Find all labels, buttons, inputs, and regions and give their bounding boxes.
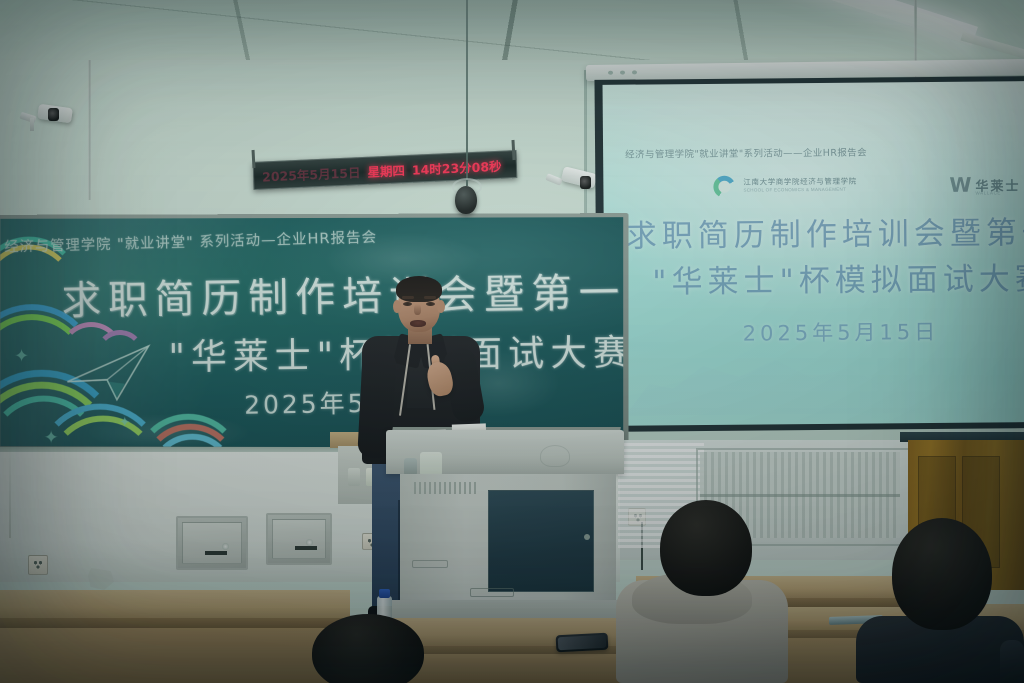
- utility-panel-inner: [272, 519, 326, 559]
- radiator-grille-divider: [700, 494, 900, 497]
- speaker-brow-left: [402, 296, 414, 299]
- hanging-microphone[interactable]: [455, 186, 477, 214]
- housing-led-icon: [608, 71, 613, 75]
- speaker-brow-right: [424, 296, 436, 299]
- student-desk-left-edge: [0, 618, 350, 628]
- slide-title-line1: 求职简历制作培训会暨第一: [626, 207, 1024, 256]
- projection-screen-frame: 经济与管理学院"就业讲堂"系列活动——企业HR报告会 江南大学商学院经济与管理学…: [594, 76, 1024, 432]
- led-weekday-segment: 星期四: [367, 160, 405, 181]
- podium-white-box[interactable]: [420, 452, 442, 476]
- sponsor-logo-subtitle: WALLACE: [975, 190, 1001, 195]
- wall-patch: [88, 568, 114, 590]
- panel-slot: [205, 551, 227, 555]
- smartphone-on-desk[interactable]: [556, 633, 609, 653]
- student-desk-left-front: [0, 628, 350, 683]
- utility-panel-2[interactable]: [266, 513, 332, 565]
- sponsor-w-icon: W: [949, 173, 971, 197]
- university-logo-subtitle: SCHOOL OF ECONOMICS & MANAGEMENT: [743, 187, 846, 193]
- wall-cable: [9, 452, 11, 538]
- housing-led-icon: [620, 71, 625, 75]
- speaker-eye-right: [426, 302, 435, 306]
- podium-vents: [414, 482, 476, 494]
- water-bottle-cap[interactable]: [379, 589, 390, 598]
- university-logo-icon: [713, 176, 735, 198]
- slide-header-text: 经济与管理学院"就业讲堂"系列活动——企业HR报告会: [625, 144, 955, 161]
- camera-mount-icon: [30, 118, 34, 131]
- audience-shoulder: [1000, 640, 1024, 683]
- housing-led-icon: [632, 70, 637, 74]
- blackboard-frame: ✦ ✦ ✦ ✦ 经济与管理学院 "就业讲堂" 系列活动—企业HR报告会 求职简历…: [0, 213, 628, 453]
- conduit-pipe-left: [88, 60, 91, 200]
- utility-panel-inner: [182, 522, 242, 564]
- speaker-ear-right: [437, 300, 445, 313]
- slide-title-line2: "华莱士"杯模拟面试大赛: [652, 253, 1024, 301]
- speaker-ear-left: [393, 300, 401, 313]
- speaker-mouth: [410, 320, 426, 327]
- blackboard-title-line1: 求职简历制作培训会暨第一届: [61, 259, 623, 326]
- speaker-nose: [414, 304, 421, 315]
- speaker-eye-left: [403, 302, 412, 306]
- audience-head: [660, 500, 752, 596]
- podium-base-slot: [470, 588, 514, 597]
- panel-slot: [295, 546, 317, 550]
- audience-head: [312, 614, 424, 683]
- slide-logo-row: 江南大学商学院经济与管理学院 SCHOOL OF ECONOMICS & MAN…: [713, 171, 1024, 200]
- projection-screen: 经济与管理学院"就业讲堂"系列活动——企业HR报告会 江南大学商学院经济与管理学…: [603, 81, 1024, 426]
- power-socket-left[interactable]: [28, 555, 48, 575]
- utility-panel-1[interactable]: [176, 516, 248, 570]
- classroom-photo-scene: 经济与管理学院"就业讲堂"系列活动——企业HR报告会 江南大学商学院经济与管理学…: [0, 0, 1024, 683]
- podium-logo-icon: [540, 445, 570, 467]
- slide-date-text: 2025年5月15日: [743, 316, 940, 348]
- chalk-paper-airplane-icon: [63, 338, 158, 408]
- camera-lens-icon: [580, 176, 591, 189]
- audience-head: [892, 518, 992, 630]
- panel-lock-icon[interactable]: [306, 539, 313, 546]
- desk-switch-1[interactable]: [348, 468, 360, 486]
- podium-slot-small: [412, 560, 448, 568]
- podium-door-handle[interactable]: [584, 534, 590, 540]
- chalk-star-icon: ✦: [14, 346, 29, 367]
- podium-cabinet-door[interactable]: [488, 490, 594, 592]
- smartphone-screen: [558, 635, 607, 650]
- panel-lock-icon[interactable]: [222, 543, 229, 550]
- microphone-cable: [466, 0, 468, 186]
- chalk-star-icon: ✦: [119, 414, 131, 431]
- led-time-segment: 14时23分08秒: [412, 155, 502, 178]
- blackboard: ✦ ✦ ✦ ✦ 经济与管理学院 "就业讲堂" 系列活动—企业HR报告会 求职简历…: [0, 217, 623, 448]
- chalk-star-icon: ✦: [44, 427, 59, 447]
- camera-lens-icon: [48, 108, 59, 121]
- led-date-segment: 2025年5月15日: [262, 162, 361, 185]
